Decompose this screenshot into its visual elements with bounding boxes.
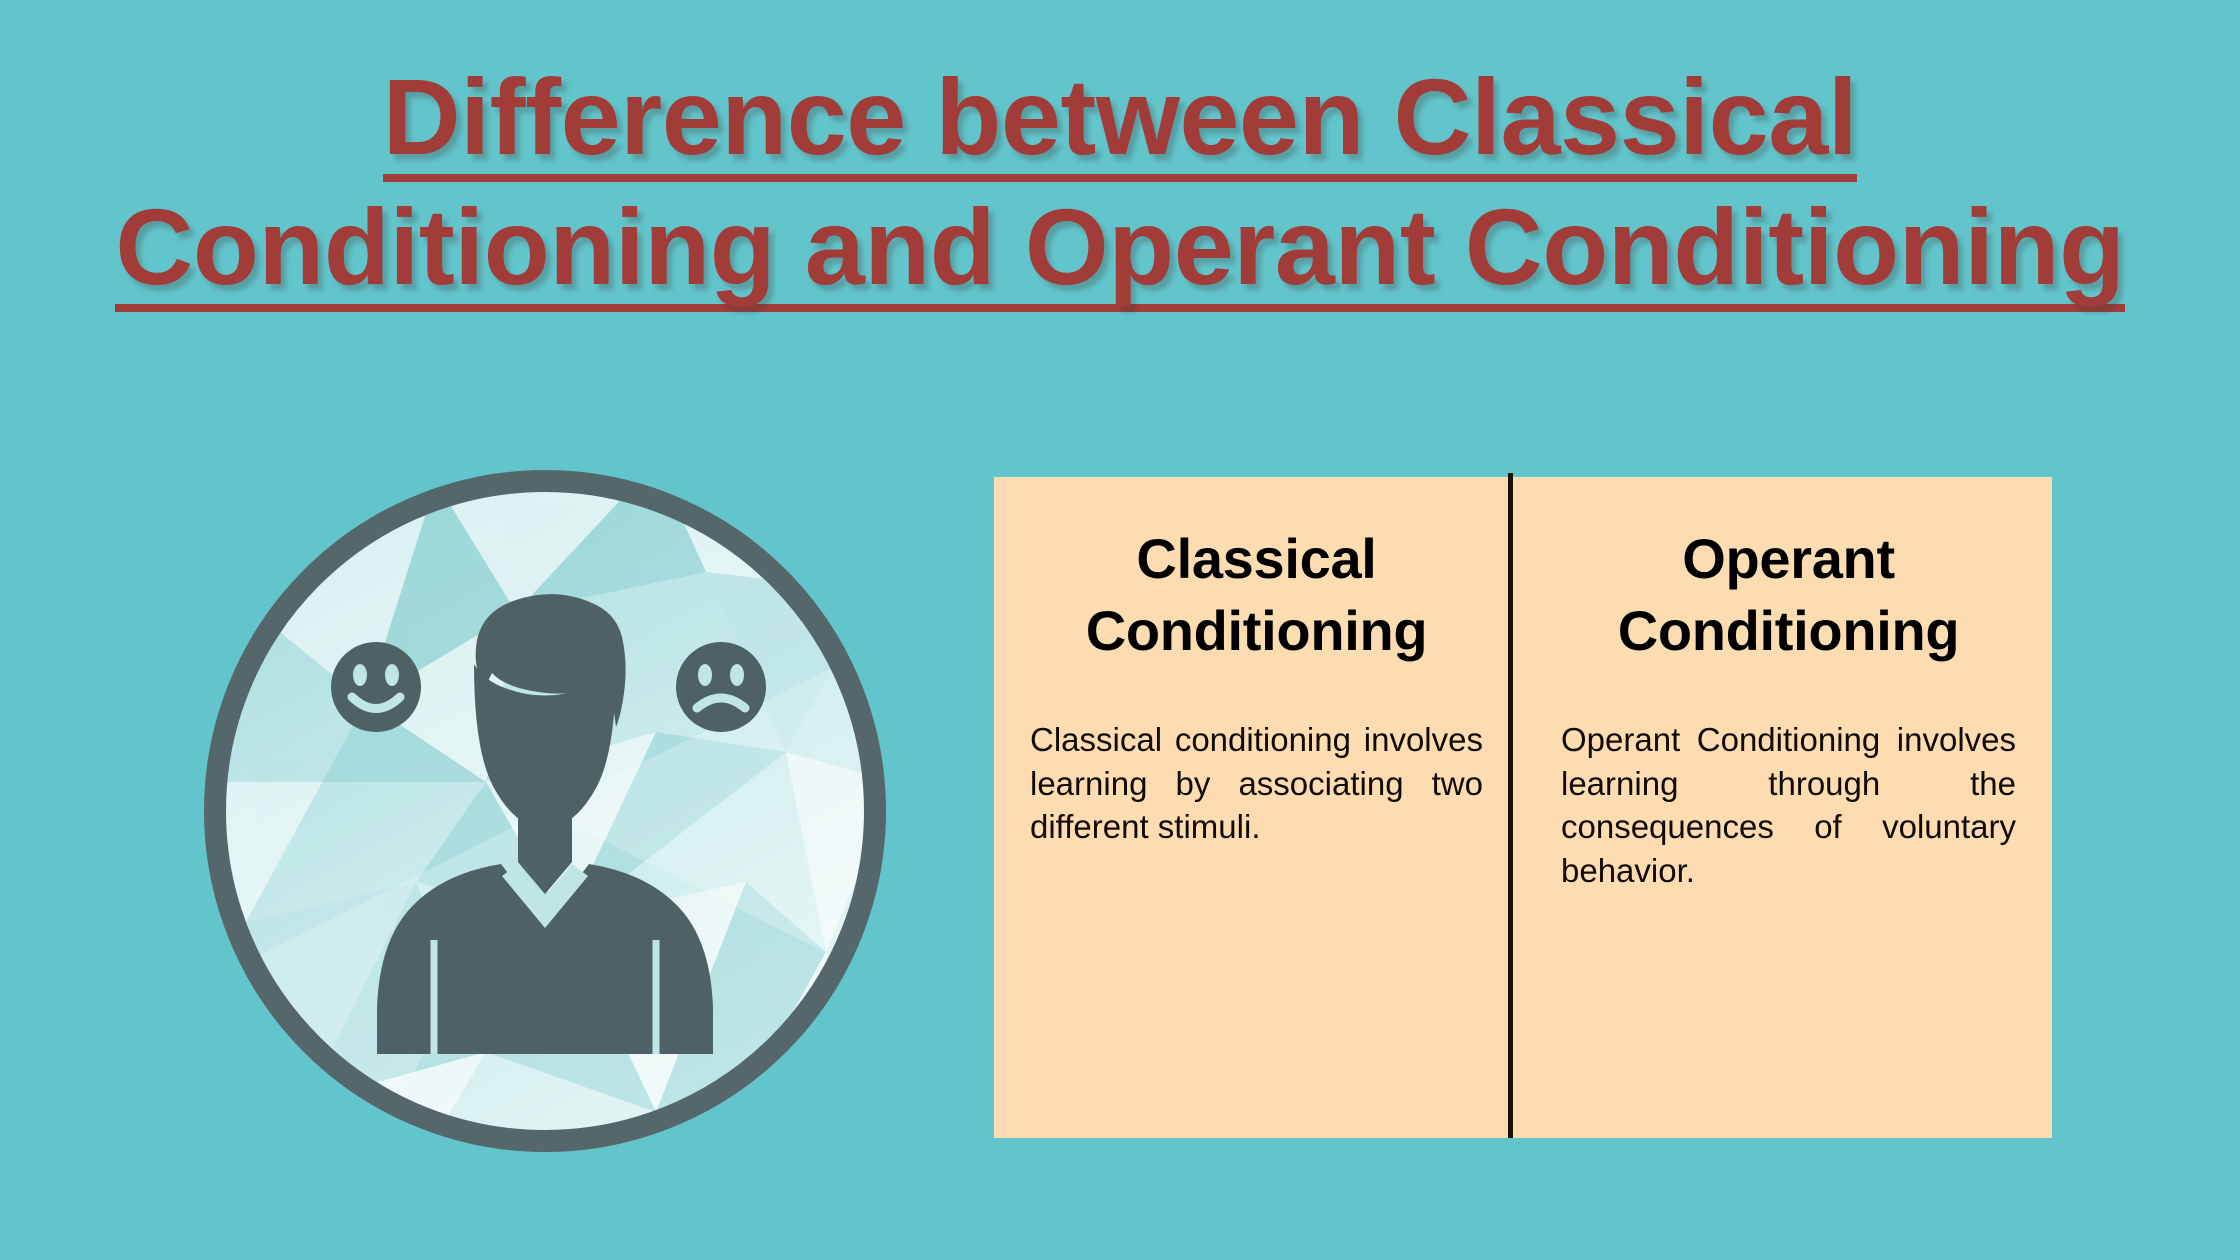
- page-title-line-2: Conditioning and Operant Conditioning: [0, 192, 2240, 312]
- column-divider: [1508, 473, 1513, 1138]
- column-heading-classical: Classical Conditioning: [1030, 523, 1483, 666]
- comparison-column-operant: Operant Conditioning Operant Conditionin…: [1523, 477, 2052, 1138]
- page-title-line-1: Difference between Classical: [0, 62, 2240, 182]
- page-title-line-2-text: Conditioning and Operant Conditioning: [115, 192, 2124, 312]
- page-title-line-1-text: Difference between Classical: [383, 62, 1858, 182]
- illustration-svg: [186, 452, 904, 1170]
- comparison-column-classical: Classical Conditioning Classical conditi…: [994, 477, 1523, 1138]
- page-title: Difference between Classical Conditionin…: [0, 62, 2240, 312]
- frowning-face-icon: [676, 642, 766, 732]
- person-with-happy-and-sad-face-illustration: [186, 452, 904, 1170]
- column-body-operant: Operant Conditioning involves learning t…: [1561, 718, 2016, 892]
- column-heading-operant: Operant Conditioning: [1561, 523, 2016, 666]
- comparison-table: Classical Conditioning Classical conditi…: [994, 477, 2052, 1138]
- smiley-face-icon: [331, 642, 421, 732]
- column-body-classical: Classical conditioning involves learning…: [1030, 718, 1483, 849]
